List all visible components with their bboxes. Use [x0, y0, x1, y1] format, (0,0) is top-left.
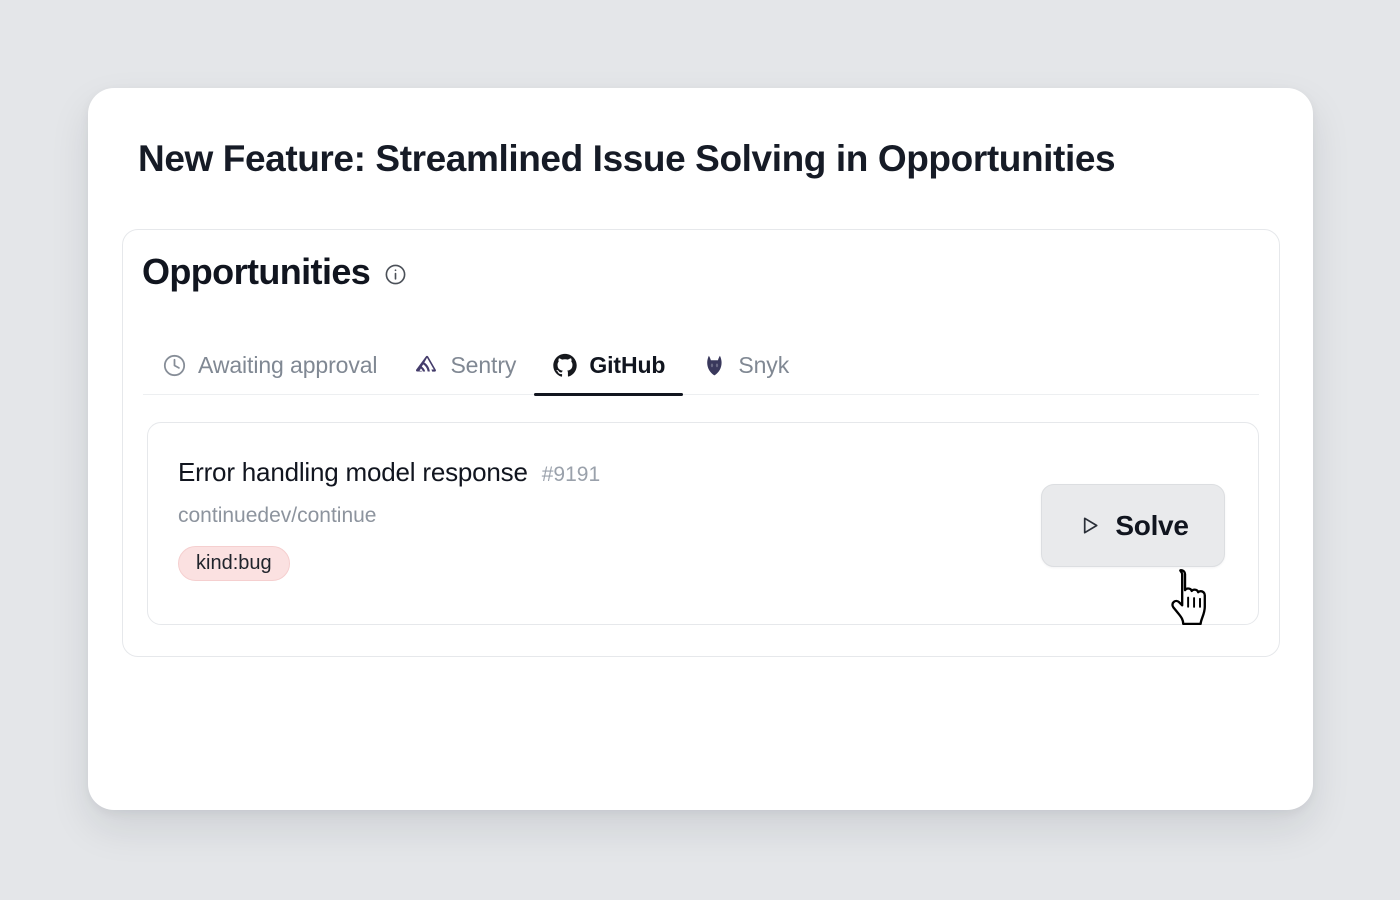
- tab-label: GitHub: [589, 352, 665, 379]
- tab-github[interactable]: GitHub: [534, 335, 683, 395]
- feature-card: New Feature: Streamlined Issue Solving i…: [88, 88, 1313, 810]
- status-badge: kind:bug: [178, 546, 290, 581]
- solve-button-label: Solve: [1115, 510, 1188, 542]
- tab-snyk[interactable]: Snyk: [683, 335, 807, 395]
- tab-bar: Awaiting approval Sentry: [143, 335, 1259, 405]
- panel-header: Opportunities: [142, 254, 407, 290]
- issue-title[interactable]: Error handling model response: [178, 457, 528, 488]
- issue-number: #9191: [542, 463, 600, 487]
- opportunity-item[interactable]: Error handling model response #9191 cont…: [147, 422, 1259, 625]
- screen: New Feature: Streamlined Issue Solving i…: [0, 0, 1400, 900]
- tab-awaiting-approval[interactable]: Awaiting approval: [143, 335, 395, 395]
- solve-button[interactable]: Solve: [1041, 484, 1225, 567]
- sentry-icon: [413, 352, 439, 378]
- opportunities-panel: Opportunities: [122, 229, 1280, 657]
- play-triangle-icon: [1077, 514, 1101, 538]
- page-title: New Feature: Streamlined Issue Solving i…: [138, 138, 1115, 180]
- tab-label: Awaiting approval: [198, 352, 377, 379]
- snyk-icon: [701, 352, 727, 378]
- tab-label: Snyk: [738, 352, 789, 379]
- info-circle-icon[interactable]: [384, 263, 407, 286]
- panel-title: Opportunities: [142, 254, 370, 290]
- tab-label: Sentry: [450, 352, 516, 379]
- tab-sentry[interactable]: Sentry: [395, 335, 534, 395]
- github-icon: [552, 352, 578, 378]
- clock-icon: [161, 352, 187, 378]
